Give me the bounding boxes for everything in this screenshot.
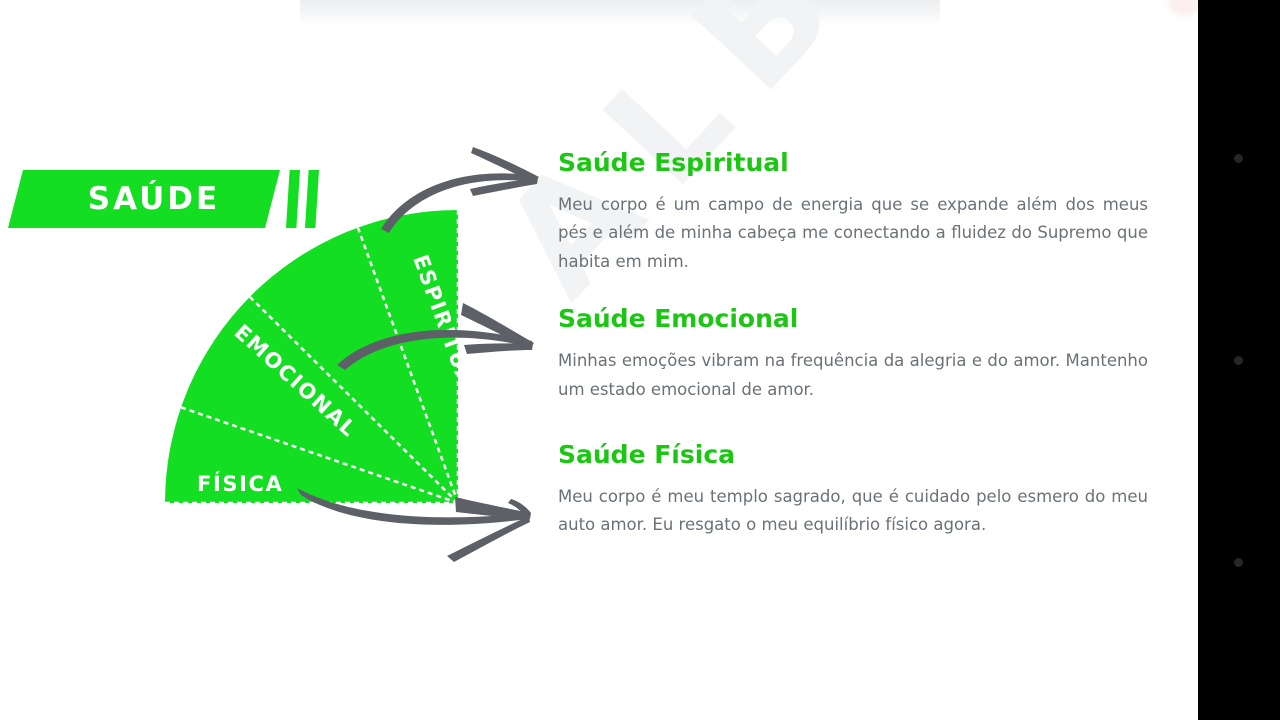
top-gradient-wash xyxy=(300,0,940,26)
right-black-band xyxy=(1198,0,1280,720)
ribbon-body: SAÚDE xyxy=(8,170,280,228)
slide-canvas: ALBANESI SAÚDE ESPIRITUAL EMOCIONAL FÍSI… xyxy=(0,0,1280,720)
saude-ribbon: SAÚDE xyxy=(0,170,330,232)
ribbon-label: SAÚDE xyxy=(68,181,220,217)
ribbon-accent-bar-1 xyxy=(286,170,300,228)
arrow-to-fisica xyxy=(297,488,531,562)
arrow-to-emocional xyxy=(337,303,534,370)
block-fisica: Saúde Física Meu corpo é meu templo sagr… xyxy=(558,440,1148,540)
block-espiritual: Saúde Espiritual Meu corpo é um campo de… xyxy=(558,148,1148,276)
band-dot-2 xyxy=(1234,356,1243,365)
block-emocional: Saúde Emocional Minhas emoções vibram na… xyxy=(558,304,1148,404)
wedge-dividers xyxy=(163,205,458,503)
block-title-emocional: Saúde Emocional xyxy=(558,304,1148,334)
block-body-emocional: Minhas emoções vibram na frequência da a… xyxy=(558,347,1148,404)
ribbon-accent-bar-2 xyxy=(305,170,319,228)
wedge-label-fisica: FÍSICA xyxy=(197,471,283,496)
block-title-espiritual: Saúde Espiritual xyxy=(558,148,1148,178)
corner-blush-decoration xyxy=(1168,0,1202,16)
band-dot-1 xyxy=(1234,154,1243,163)
block-title-fisica: Saúde Física xyxy=(558,440,1148,470)
wedge-group xyxy=(165,210,458,503)
wedge-label-emocional: EMOCIONAL xyxy=(230,320,362,442)
arrow-to-espiritual xyxy=(381,147,539,233)
block-body-fisica: Meu corpo é meu templo sagrado, que é cu… xyxy=(558,483,1148,540)
band-dot-3 xyxy=(1234,558,1243,567)
block-body-espiritual: Meu corpo é um campo de energia que se e… xyxy=(558,191,1148,276)
health-descriptions: Saúde Espiritual Meu corpo é um campo de… xyxy=(558,148,1148,562)
wedge-label-espiritual: ESPIRITUAL xyxy=(408,252,483,404)
